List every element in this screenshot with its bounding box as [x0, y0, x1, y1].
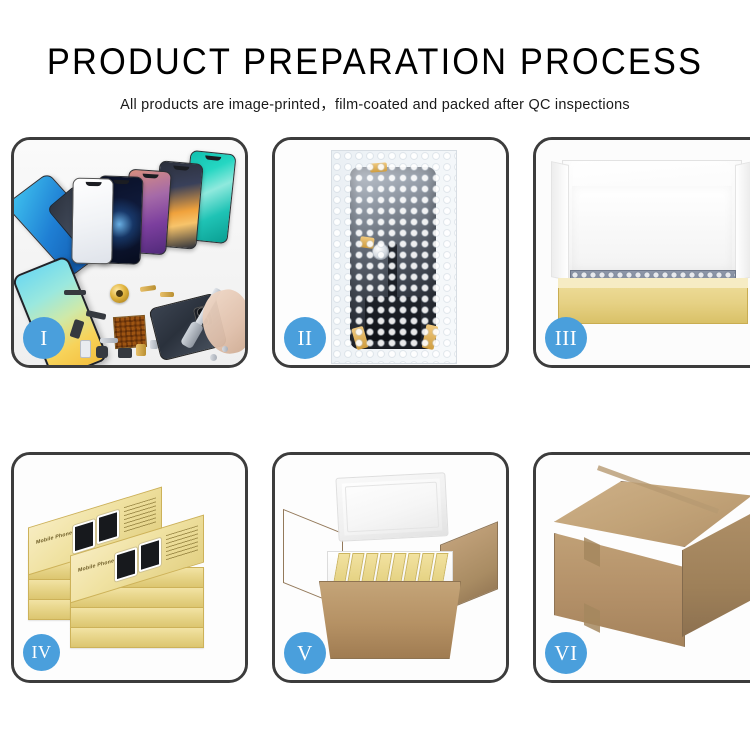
screw-part: [210, 354, 217, 361]
stacked-box: [70, 627, 204, 648]
gold-coil-part: [110, 284, 129, 303]
page-title: PRODUCT PREPARATION PROCESS: [26, 0, 724, 83]
bubble-wrap-bag: [331, 150, 457, 364]
notch-icon: [85, 182, 101, 186]
spare-part: [118, 348, 132, 358]
box-artwork-thumb: [115, 547, 137, 582]
tape-strip: [370, 162, 388, 172]
spare-part: [96, 346, 108, 358]
camera-lens-icon: [372, 243, 389, 260]
box-artwork-thumb: [97, 510, 119, 545]
tape-strip: [351, 326, 369, 350]
process-step-grid: I II III: [11, 137, 739, 683]
box-artwork-thumb: [139, 538, 161, 573]
carton-body: [319, 581, 461, 659]
process-step-panel-5: V: [272, 452, 509, 683]
process-step-panel-1: I: [11, 137, 248, 368]
step-badge-3: III: [545, 317, 587, 359]
spare-part: [136, 344, 146, 356]
box-spec-lines: [166, 525, 198, 561]
notch-icon: [173, 165, 189, 170]
notch-icon: [113, 180, 129, 185]
tape-strip: [422, 324, 439, 350]
page-subtitle: All products are image-printed，film-coat…: [4, 83, 747, 114]
process-step-panel-3: III: [533, 137, 750, 368]
connector-strip: [365, 297, 421, 341]
notch-icon: [142, 174, 158, 179]
screen-assembly: [350, 167, 436, 349]
step-badge-1: I: [23, 317, 65, 359]
foam-cooler-lid: [335, 472, 448, 542]
flex-cable: [388, 243, 397, 333]
step-badge-2: II: [284, 317, 326, 359]
box-spec-lines: [124, 497, 156, 533]
step-badge-4: IV: [23, 634, 60, 671]
spare-part: [64, 290, 86, 295]
notch-icon: [205, 155, 221, 161]
process-step-panel-2: II: [272, 137, 509, 368]
yellow-box-base: [558, 278, 748, 324]
process-step-panel-4: Mobile Phone Spare Parts Mobile Phone Sp…: [11, 452, 248, 683]
screw-part: [222, 346, 228, 352]
tape-strip: [359, 236, 374, 249]
stacked-box: [70, 607, 204, 628]
screen-protector-white: [71, 178, 113, 265]
page-header: PRODUCT PREPARATION PROCESS All products…: [0, 0, 750, 114]
step-badge-6: VI: [545, 632, 587, 674]
foam-sheet: [572, 186, 732, 270]
step-badge-5: V: [284, 632, 326, 674]
spare-part: [80, 340, 91, 358]
spare-part: [100, 338, 118, 343]
process-step-panel-6: VI: [533, 452, 750, 683]
spare-part: [160, 292, 174, 297]
